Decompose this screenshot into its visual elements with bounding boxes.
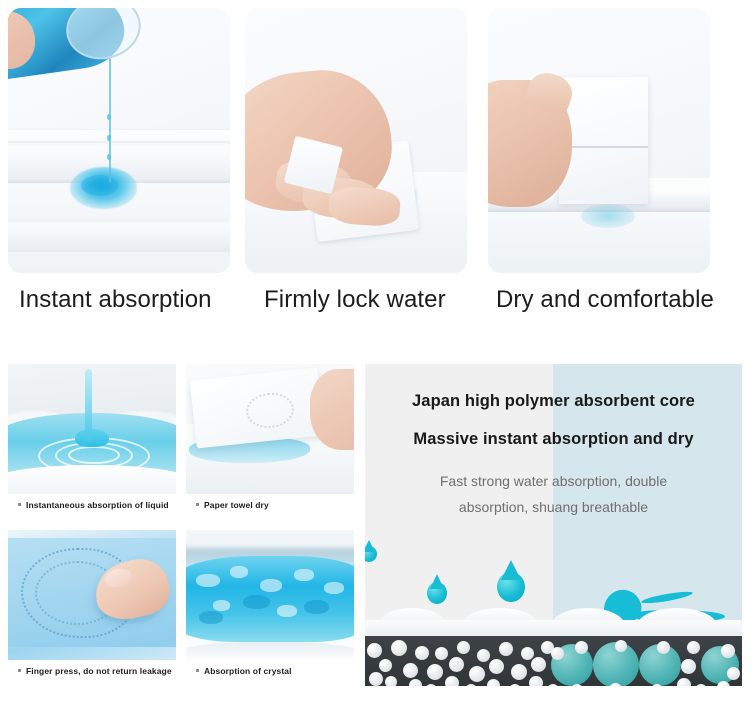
detail-caption-3-text: Finger press, do not return leakage (26, 666, 172, 676)
panel-subtitle: Fast strong water absorption, double abs… (389, 468, 718, 520)
detail-grid: Instantaneous absorption of liquid Paper… (8, 364, 354, 694)
detail-caption-4-text: Absorption of crystal (204, 666, 292, 676)
bullet-icon (196, 503, 199, 506)
panel-headline-1: Japan high polymer absorbent core (365, 392, 742, 411)
water-drop-icon (497, 560, 525, 602)
water-splash-photo (8, 364, 176, 494)
feature-tile-instant-absorption (8, 8, 230, 273)
panel-headline-2: Massive instant absorption and dry (365, 430, 742, 449)
bullet-icon (18, 669, 21, 672)
water-drop-icon (427, 574, 447, 604)
water-drop-icon (365, 540, 377, 562)
bullet-icon (196, 669, 199, 672)
feature-caption-3: Dry and comfortable (496, 286, 714, 314)
infographic-page: Instant absorption Firmly lock water Dry… (0, 0, 755, 716)
feature-tile-lock-water (245, 8, 467, 273)
detail-caption-2-text: Paper towel dry (204, 500, 269, 510)
panel-subtitle-line-2: absorption, shuang breathable (389, 494, 718, 520)
feature-caption-2: Firmly lock water (264, 286, 446, 314)
feature-row (0, 0, 755, 280)
bullet-icon (18, 503, 21, 506)
feature-caption-row: Instant absorption Firmly lock water Dry… (0, 286, 755, 326)
pouring-water-photo (8, 8, 230, 273)
detail-caption-3: Finger press, do not return leakage (18, 666, 172, 676)
panel-subtitle-line-1: Fast strong water absorption, double (389, 468, 718, 494)
hand-wiping-photo (245, 8, 467, 273)
detail-caption-1-text: Instantaneous absorption of liquid (26, 500, 169, 510)
finger-press-photo (8, 530, 176, 660)
detail-caption-2: Paper towel dry (196, 500, 269, 510)
gel-crystal-photo (186, 530, 354, 660)
feature-caption-1: Instant absorption (19, 286, 212, 314)
feature-tile-dry-comfortable (488, 8, 710, 273)
absorbent-core-cross-section (365, 532, 742, 694)
info-panel: Japan high polymer absorbent core Massiv… (365, 364, 742, 694)
detail-caption-1: Instantaneous absorption of liquid (18, 500, 169, 510)
dry-tissue-photo (488, 8, 710, 273)
paper-towel-photo (186, 364, 354, 494)
detail-caption-4: Absorption of crystal (196, 666, 292, 676)
